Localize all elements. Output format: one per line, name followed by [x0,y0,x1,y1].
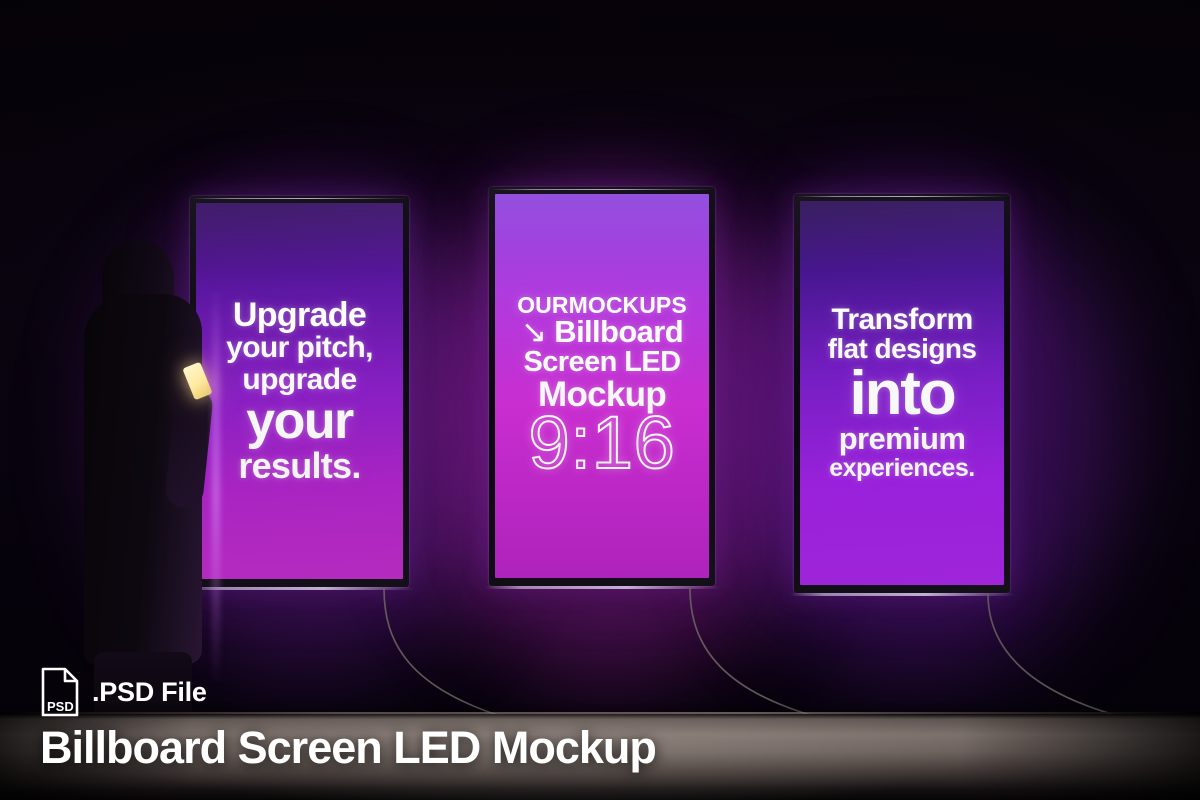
scene-photo: Upgrade your pitch, upgrade your results… [0,0,1200,800]
billboard-right-screen[interactable]: Transform flat designs into premium expe… [800,201,1004,585]
billboard-right-line-5: experiences. [800,456,1004,480]
billboard-right[interactable]: Transform flat designs into premium expe… [794,194,1010,593]
billboard-left[interactable]: Upgrade your pitch, upgrade your results… [190,196,409,587]
psd-badge-label: PSD [47,699,74,714]
billboard-center-line-3: Screen LED [495,349,709,377]
billboard-center-brand: OURMOCKUPS [495,294,709,316]
bezel-bottom [485,586,721,589]
billboard-left-screen[interactable]: Upgrade your pitch, upgrade your results… [196,203,403,579]
caption-block: PSD .PSD File Billboard Screen LED Mocku… [40,667,656,770]
billboard-center-line-2-text: Billboard [554,314,683,349]
psd-file-icon: PSD [40,667,80,717]
person-rim-light [212,286,220,686]
billboard-left-line-3: upgrade [196,366,403,395]
psd-file-row: PSD .PSD File [40,667,656,717]
billboard-center-aspect-ratio: 9:16 [495,407,709,478]
billboard-center-line-2: ↘ Billboard [495,317,709,347]
bezel-bottom [790,593,1016,596]
bezel-highlight [796,196,1008,197]
billboard-left-line-2: your pitch, [196,334,403,363]
billboard-right-line-3: into [800,364,1004,424]
arrow-down-right-icon: ↘ [521,317,546,347]
billboard-right-line-1: Transform [800,306,1004,335]
bezel-highlight [192,198,407,199]
bezel-highlight [491,189,713,190]
billboard-left-line-5: results. [196,449,403,484]
billboard-center[interactable]: OURMOCKUPS ↘ Billboard Screen LED Mockup… [489,187,715,586]
page-title: Billboard Screen LED Mockup [40,725,656,770]
billboard-left-line-1: Upgrade [196,299,403,332]
billboard-center-screen[interactable]: OURMOCKUPS ↘ Billboard Screen LED Mockup… [495,194,709,578]
billboard-right-line-4: premium [800,424,1004,454]
psd-file-label: .PSD File [92,677,207,708]
billboard-left-line-4: your [196,397,403,447]
bezel-bottom [186,587,415,590]
